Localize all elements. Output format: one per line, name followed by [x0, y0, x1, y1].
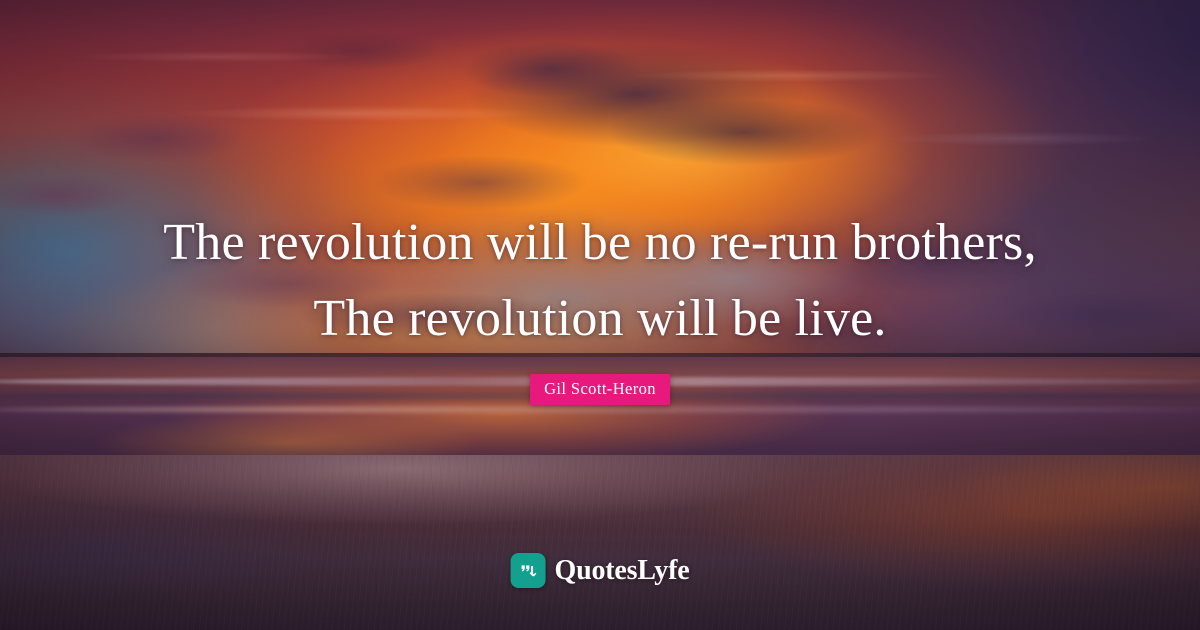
quote-poster: The revolution will be no re-run brother… — [0, 0, 1200, 630]
quote-line-2: The revolution will be live. — [0, 281, 1200, 357]
quote-text: The revolution will be no re-run brother… — [0, 205, 1200, 357]
quote-check-logo-icon — [511, 553, 546, 588]
poster-content: The revolution will be no re-run brother… — [0, 0, 1200, 630]
author-badge: Gil Scott-Heron — [530, 374, 670, 405]
quote-line-1: The revolution will be no re-run brother… — [0, 205, 1200, 281]
brand-name: QuotesLyfe — [555, 555, 690, 587]
brand-logo[interactable]: QuotesLyfe — [511, 553, 690, 588]
